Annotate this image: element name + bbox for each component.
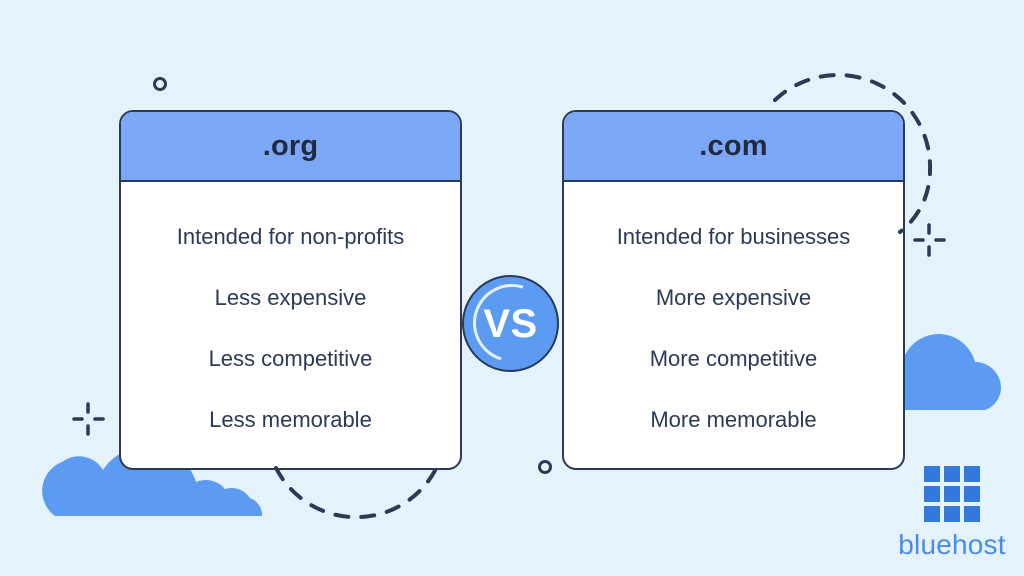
- sparkle-icon: [74, 404, 103, 434]
- list-item: More memorable: [564, 389, 903, 450]
- list-item: More expensive: [564, 267, 903, 328]
- cloud-right: [901, 334, 1001, 410]
- vs-label: VS: [483, 304, 537, 344]
- list-item: Intended for non-profits: [121, 206, 460, 267]
- list-item: Less expensive: [121, 267, 460, 328]
- list-item: More competitive: [564, 328, 903, 389]
- list-item: Less competitive: [121, 328, 460, 389]
- bluehost-logo: bluehost: [893, 466, 1011, 559]
- sparkle-icon: [915, 225, 944, 255]
- card-body-org: Intended for non-profits Less expensive …: [121, 182, 460, 468]
- nine-square-grid-icon: [924, 466, 980, 522]
- small-circle-icon: [540, 462, 551, 473]
- card-body-com: Intended for businesses More expensive M…: [564, 182, 903, 468]
- card-title-org: .org: [263, 130, 319, 163]
- card-header-com: .com: [564, 112, 903, 182]
- small-circle-icon: [155, 79, 166, 90]
- card-title-com: .com: [699, 130, 768, 163]
- card-header-org: .org: [121, 112, 460, 182]
- infographic-canvas: .org Intended for non-profits Less expen…: [0, 0, 1024, 576]
- vs-badge: VS: [462, 275, 559, 372]
- list-item: Less memorable: [121, 389, 460, 450]
- comparison-card-org: .org Intended for non-profits Less expen…: [119, 110, 462, 470]
- comparison-card-com: .com Intended for businesses More expens…: [562, 110, 905, 470]
- list-item: Intended for businesses: [564, 206, 903, 267]
- brand-wordmark: bluehost: [898, 531, 1005, 559]
